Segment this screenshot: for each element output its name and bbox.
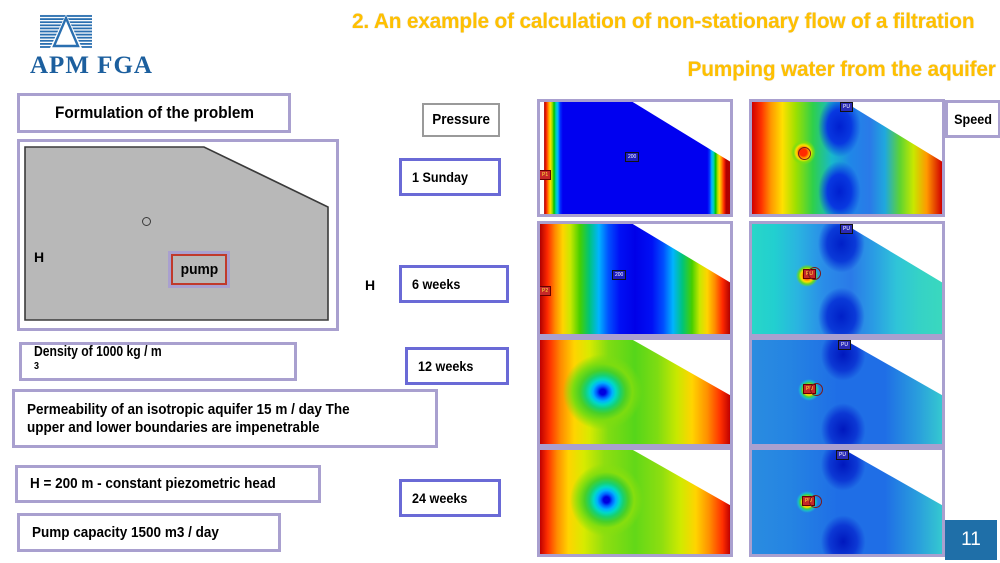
apm-fga-mark-icon <box>38 12 94 52</box>
time-step-3-label: 12 weeks <box>408 350 506 382</box>
geometry-h-label: H <box>34 249 44 265</box>
pump-ring-icon <box>798 147 811 160</box>
plot-canvas: PU PU <box>752 450 942 554</box>
fact-capacity-box: Pump capacity 1500 m3 / day <box>20 516 278 549</box>
plot-canvas <box>540 450 730 554</box>
fact-density-text: Density of 1000 kg / m3 <box>34 343 176 379</box>
plot-pressure-6-weeks[interactable]: 200 P2 <box>540 224 730 334</box>
page-number-badge: 11 <box>945 520 997 560</box>
aquifer-geometry-diagram: H pump <box>20 142 336 328</box>
pump-ring-icon <box>808 267 821 280</box>
plot-canvas: PU <box>752 102 942 214</box>
plot-marker-tag: P1 <box>540 170 551 180</box>
plot-top-tag: PU <box>836 450 849 460</box>
pressure-column-label-text: Pressure <box>432 111 490 129</box>
slide: 2. An example of calculation of non-stat… <box>0 0 1000 563</box>
pump-ring-icon <box>809 495 822 508</box>
plot-speed-1-sunday[interactable]: PU <box>752 102 942 214</box>
time-step-1-text: 1 Sunday <box>412 169 468 186</box>
plot-top-tag: PU <box>840 224 853 234</box>
pump-ring-icon <box>810 383 823 396</box>
pump-label-box: pump <box>171 254 227 285</box>
speed-column-label: Speed <box>948 103 998 135</box>
aquifer-geometry-canvas <box>22 144 332 324</box>
logo-text: APM FGA <box>30 52 180 80</box>
fact-permeability-box: Permeability of an isotropic aquifer 15 … <box>15 392 435 445</box>
time-step-2-text: 6 weeks <box>412 276 460 293</box>
plot-canvas: 200 P2 <box>540 224 730 334</box>
plot-speed-12-weeks[interactable]: PU PU <box>752 340 942 444</box>
plot-pressure-24-weeks[interactable] <box>540 450 730 554</box>
plot-canvas: PU PU <box>752 224 942 334</box>
plot-canvas: 200 P1 <box>540 102 730 214</box>
time-step-2-label: 6 weeks <box>402 268 506 300</box>
time-step-3-text: 12 weeks <box>418 358 473 375</box>
well-point-icon <box>142 217 151 226</box>
time-step-4-label: 24 weeks <box>402 482 498 514</box>
plot-canvas: PU PU <box>752 340 942 444</box>
fact-permeability-text: Permeability of an isotropic aquifer 15 … <box>27 401 383 436</box>
plot-marker-tag: P2 <box>540 286 551 296</box>
slide-title-line-1: 2. An example of calculation of non-stat… <box>352 9 974 34</box>
pump-label-text: pump <box>180 261 218 278</box>
h-side-label: H <box>365 277 375 293</box>
plot-pressure-12-weeks[interactable] <box>540 340 730 444</box>
logo: APM FGA <box>30 12 180 82</box>
fact-capacity-text: Pump capacity 1500 m3 / day <box>32 524 219 542</box>
slide-subtitle-line-2: Pumping water from the aquifer <box>688 57 996 82</box>
fact-head-text: H = 200 m - constant piezometric head <box>30 475 276 493</box>
plot-pressure-1-sunday[interactable]: 200 P1 <box>540 102 730 214</box>
plot-center-value-tag: 200 <box>625 152 639 162</box>
formulation-heading-box: Formulation of the problem <box>20 96 288 130</box>
pressure-column-label: Pressure <box>424 105 498 135</box>
time-step-4-text: 24 weeks <box>412 490 467 507</box>
plot-top-tag: PU <box>838 340 851 350</box>
plot-speed-6-weeks[interactable]: PU PU <box>752 224 942 334</box>
plot-top-tag: PU <box>840 102 853 112</box>
plot-center-value-tag: 200 <box>612 270 626 280</box>
plot-speed-24-weeks[interactable]: PU PU <box>752 450 942 554</box>
formulation-heading-text: Formulation of the problem <box>55 103 254 123</box>
plot-canvas <box>540 340 730 444</box>
fact-density-box: Density of 1000 kg / m3 <box>22 345 294 378</box>
time-step-1-label: 1 Sunday <box>402 161 498 193</box>
speed-column-label-text: Speed <box>954 111 992 128</box>
fact-head-box: H = 200 m - constant piezometric head <box>18 468 318 500</box>
